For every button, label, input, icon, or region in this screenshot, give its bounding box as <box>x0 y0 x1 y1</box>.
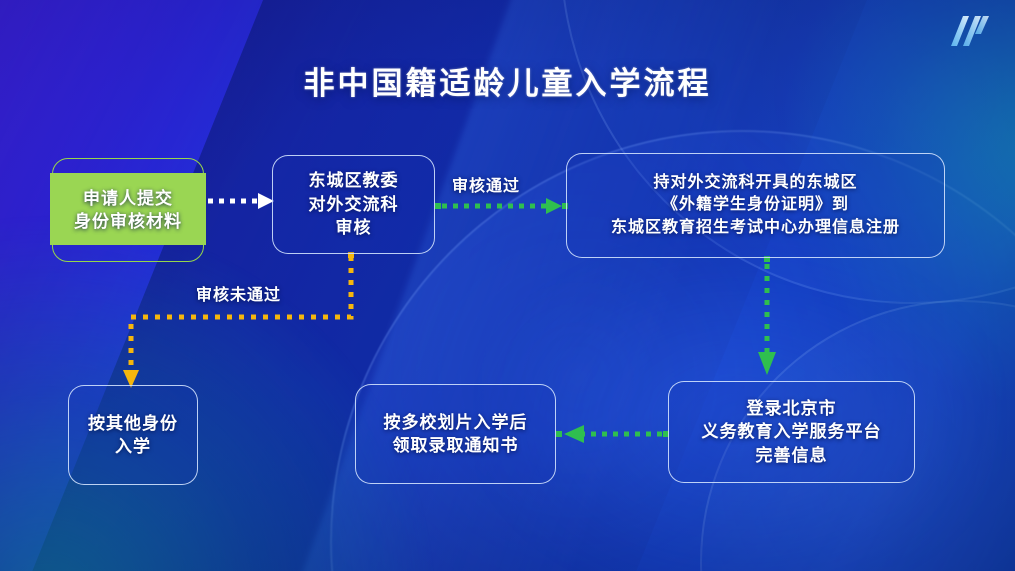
node-line: 身份审核材料 <box>74 210 182 233</box>
node-label: 按多校划片入学后 领取录取通知书 <box>384 411 528 458</box>
edge-label-rejected: 审核未通过 <box>196 281 281 305</box>
node-enroll-other-identity[interactable]: 按其他身份 入学 <box>68 385 198 485</box>
node-line: 东城区教委 <box>309 169 399 192</box>
node-line: 东城区教育招生考试中心办理信息注册 <box>611 217 900 239</box>
node-dongcheng-review[interactable]: 东城区教委 对外交流科 审核 <box>272 155 435 254</box>
connector-nub-n2-right <box>435 203 441 209</box>
node-label: 按其他身份 入学 <box>88 412 178 459</box>
node-receive-admission-notice[interactable]: 按多校划片入学后 领取录取通知书 <box>355 384 556 484</box>
node-line: 《外籍学生身份证明》到 <box>611 194 900 216</box>
connector-nub-n5-right <box>556 431 562 437</box>
node-line: 领取录取通知书 <box>384 434 528 457</box>
node-line: 按多校划片入学后 <box>384 411 528 434</box>
node-label: 申请人提交 身份审核材料 <box>74 187 182 234</box>
node-line: 审核 <box>309 216 399 239</box>
node-applicant-submit[interactable]: 申请人提交 身份审核材料 <box>52 158 204 262</box>
edge-n2-to-n3 <box>442 198 562 214</box>
edge-n2-to-n4 <box>123 256 351 388</box>
node-line: 按其他身份 <box>88 412 178 435</box>
flow-connectors <box>0 0 1015 571</box>
node-line: 持对外交流科开具的东城区 <box>611 172 900 194</box>
node-identity-certificate-registration[interactable]: 持对外交流科开具的东城区 《外籍学生身份证明》到 东城区教育招生考试中心办理信息… <box>566 153 945 258</box>
edge-n3-to-n6 <box>758 264 776 375</box>
node-label: 东城区教委 对外交流科 审核 <box>309 169 399 239</box>
edge-n6-to-n5 <box>564 425 662 443</box>
edge-label-approved: 审核通过 <box>452 172 520 196</box>
slide-canvas: 非中国籍适龄儿童入学流程 <box>0 0 1015 571</box>
node-line: 登录北京市 <box>702 397 882 420</box>
edge-n1-to-n2 <box>208 193 274 209</box>
node-line: 完善信息 <box>702 444 882 467</box>
node-line: 申请人提交 <box>74 187 182 210</box>
node-label: 登录北京市 义务教育入学服务平台 完善信息 <box>702 397 882 467</box>
node-line: 入学 <box>88 435 178 458</box>
node-line: 义务教育入学服务平台 <box>702 420 882 443</box>
node-beijing-platform-login[interactable]: 登录北京市 义务教育入学服务平台 完善信息 <box>668 381 915 483</box>
node-label: 持对外交流科开具的东城区 《外籍学生身份证明》到 东城区教育招生考试中心办理信息… <box>611 172 900 238</box>
node-line: 对外交流科 <box>309 193 399 216</box>
